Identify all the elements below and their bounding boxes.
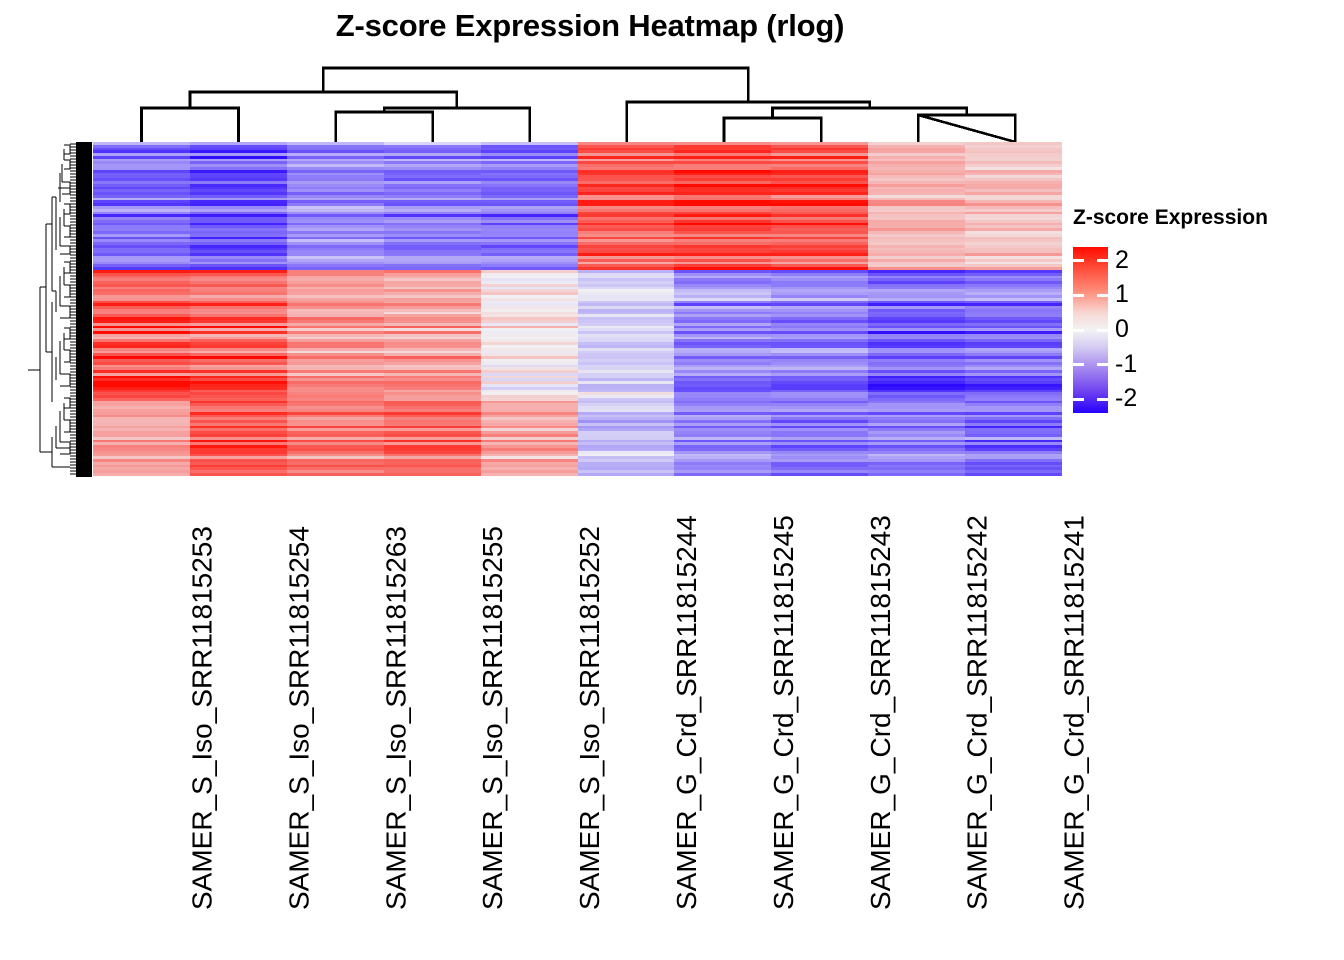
- page-title: Z-score Expression Heatmap (rlog): [0, 8, 1180, 44]
- colorbar-tick: [1097, 294, 1108, 297]
- colorbar-tick: [1097, 398, 1108, 401]
- heatmap-column: [93, 142, 190, 477]
- colorbar-tick: [1097, 259, 1108, 262]
- colorbar: [1073, 247, 1108, 413]
- column-label-3: SAMER_S_Iso_SRR11815255: [444, 470, 541, 910]
- legend-title: Z-score Expression: [1073, 206, 1268, 230]
- heatmap-column: [965, 142, 1062, 477]
- heatmap-grid: [93, 142, 1062, 477]
- colorbar-tick-label: -2: [1115, 386, 1137, 411]
- column-label-5: SAMER_G_Crd_SRR11815244: [638, 470, 735, 910]
- colorbar-tick-label: -1: [1115, 352, 1137, 377]
- heatmap-column: [868, 142, 965, 477]
- column-label-4: SAMER_S_Iso_SRR11815252: [541, 470, 638, 910]
- heatmap-column: [384, 142, 481, 477]
- colorbar-tick: [1073, 398, 1084, 401]
- colorbar-tick: [1097, 363, 1108, 366]
- heatmap-column: [190, 142, 287, 477]
- heatmap-column: [481, 142, 578, 477]
- colorbar-tick-label: 0: [1115, 317, 1129, 342]
- legend: Z-score Expression 210-1-2: [1073, 206, 1333, 421]
- column-label-7: SAMER_G_Crd_SRR11815243: [832, 470, 929, 910]
- column-label-2: SAMER_S_Iso_SRR11815263: [347, 470, 444, 910]
- colorbar-tick: [1097, 329, 1108, 332]
- column-label-8: SAMER_G_Crd_SRR11815242: [929, 470, 1026, 910]
- colorbar-tick-label: 1: [1115, 282, 1129, 307]
- colorbar-tick: [1073, 259, 1084, 262]
- colorbar-tick: [1073, 363, 1084, 366]
- row-dendrogram: [18, 142, 92, 477]
- column-label-1: SAMER_S_Iso_SRR11815254: [250, 470, 347, 910]
- heatmap-column: [578, 142, 675, 477]
- heatmap-column: [771, 142, 868, 477]
- colorbar-tick: [1073, 329, 1084, 332]
- colorbar-tick: [1073, 294, 1084, 297]
- column-label-0: SAMER_S_Iso_SRR11815253: [153, 470, 250, 910]
- column-label-6: SAMER_G_Crd_SRR11815245: [735, 470, 832, 910]
- heatmap-column: [674, 142, 771, 477]
- column-label-9: SAMER_G_Crd_SRR11815241: [1026, 470, 1123, 910]
- colorbar-tick-label: 2: [1115, 248, 1129, 273]
- column-dendrogram: [93, 60, 1062, 142]
- column-labels: SAMER_S_Iso_SRR11815253SAMER_S_Iso_SRR11…: [93, 480, 1062, 920]
- heatmap-column: [287, 142, 384, 477]
